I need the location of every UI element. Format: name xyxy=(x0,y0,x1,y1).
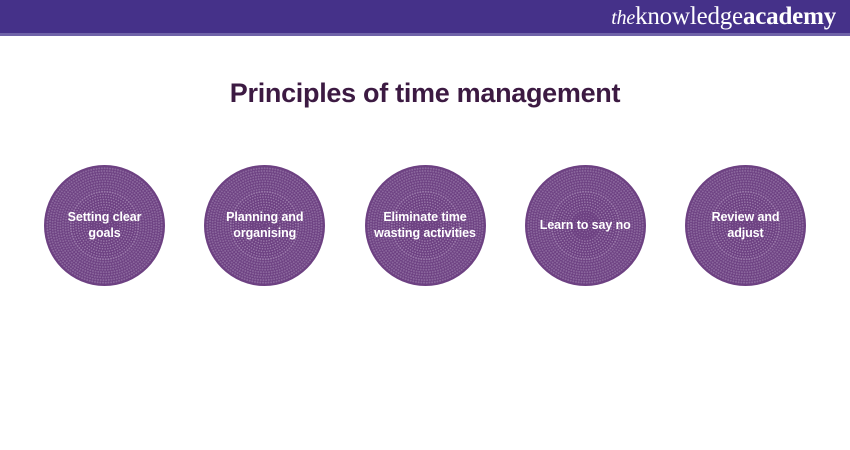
principles-circle-row: Setting clear goals Planning and organis… xyxy=(44,165,806,287)
header-underline-divider xyxy=(0,33,850,36)
logo-text-knowledge: knowledge xyxy=(635,3,743,30)
logo-text-the: the xyxy=(611,7,635,29)
brand-logo[interactable]: theknowledgeacademy xyxy=(611,4,836,29)
principle-label-4: Learn to say no xyxy=(533,218,637,233)
logo-text-academy: academy xyxy=(743,3,836,30)
principle-label-3: Eliminate time wasting activities xyxy=(373,210,477,241)
principle-label-5: Review and adjust xyxy=(694,210,798,241)
principle-circle-5[interactable]: Review and adjust xyxy=(685,165,806,286)
principle-circle-3[interactable]: Eliminate time wasting activities xyxy=(365,165,486,286)
principle-circle-2[interactable]: Planning and organising xyxy=(204,165,325,286)
principle-label-2: Planning and organising xyxy=(213,210,317,241)
page-title: Principles of time management xyxy=(0,78,850,109)
principle-label-1: Setting clear goals xyxy=(53,210,157,241)
principle-circle-4[interactable]: Learn to say no xyxy=(525,165,646,286)
header-bar: theknowledgeacademy xyxy=(0,0,850,33)
principle-circle-1[interactable]: Setting clear goals xyxy=(44,165,165,286)
